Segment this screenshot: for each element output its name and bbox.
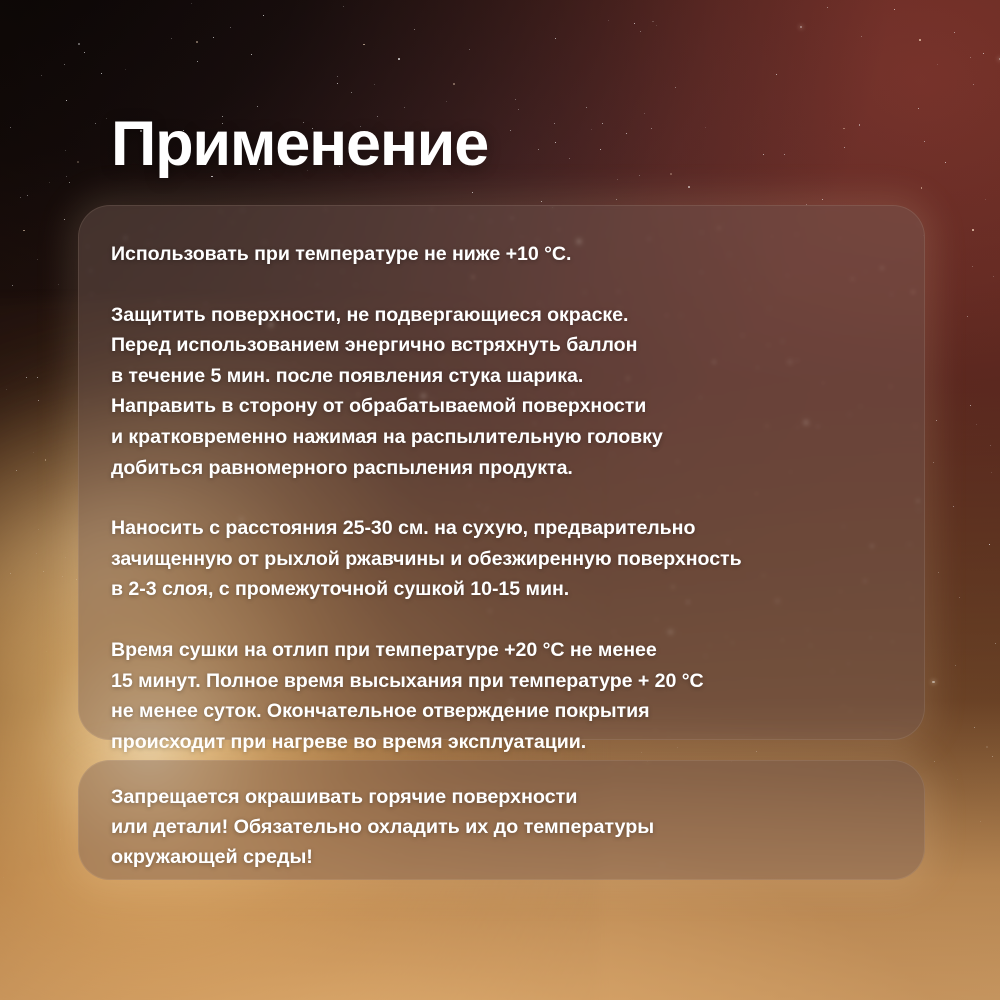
instruction-line: происходит при нагреве во время эксплуат…: [111, 727, 899, 758]
warning-line: окружающей среды!: [111, 842, 905, 872]
instruction-line: в течение 5 мин. после появления стука ш…: [111, 361, 899, 392]
warning-line: Запрещается окрашивать горячие поверхнос…: [111, 782, 905, 812]
instruction-line: и кратковременно нажимая на распылительн…: [111, 422, 899, 453]
instructions-text: Использовать при температуре не ниже +10…: [111, 239, 899, 757]
instruction-line: Защитить поверхности, не подвергающиеся …: [111, 300, 899, 331]
instruction-paragraph: Наносить с расстояния 25-30 см. на сухую…: [111, 513, 899, 605]
instruction-line: не менее суток. Окончательное отверждени…: [111, 696, 899, 727]
warning-card: Запрещается окрашивать горячие поверхнос…: [78, 760, 925, 880]
instruction-paragraph: Использовать при температуре не ниже +10…: [111, 239, 899, 270]
instruction-line: Время сушки на отлип при температуре +20…: [111, 635, 899, 666]
instruction-paragraph: Защитить поверхности, не подвергающиеся …: [111, 300, 899, 484]
instruction-line: Использовать при температуре не ниже +10…: [111, 239, 899, 270]
instructions-card: Использовать при температуре не ниже +10…: [78, 205, 925, 740]
page-title: Применение: [111, 113, 488, 176]
instruction-line: в 2-3 слоя, с промежуточной сушкой 10-15…: [111, 574, 899, 605]
instruction-line: Перед использованием энергично встряхнут…: [111, 330, 899, 361]
instruction-paragraph: Время сушки на отлип при температуре +20…: [111, 635, 899, 757]
instruction-line: 15 минут. Полное время высыхания при тем…: [111, 666, 899, 697]
instruction-line: Наносить с расстояния 25-30 см. на сухую…: [111, 513, 899, 544]
warning-text: Запрещается окрашивать горячие поверхнос…: [111, 782, 905, 872]
instruction-line: зачищенную от рыхлой ржавчины и обезжире…: [111, 544, 899, 575]
warning-line: или детали! Обязательно охладить их до т…: [111, 812, 905, 842]
poster-canvas: Применение Использовать при температуре …: [0, 0, 1000, 1000]
instruction-line: Направить в сторону от обрабатываемой по…: [111, 391, 899, 422]
instruction-line: добиться равномерного распыления продукт…: [111, 453, 899, 484]
